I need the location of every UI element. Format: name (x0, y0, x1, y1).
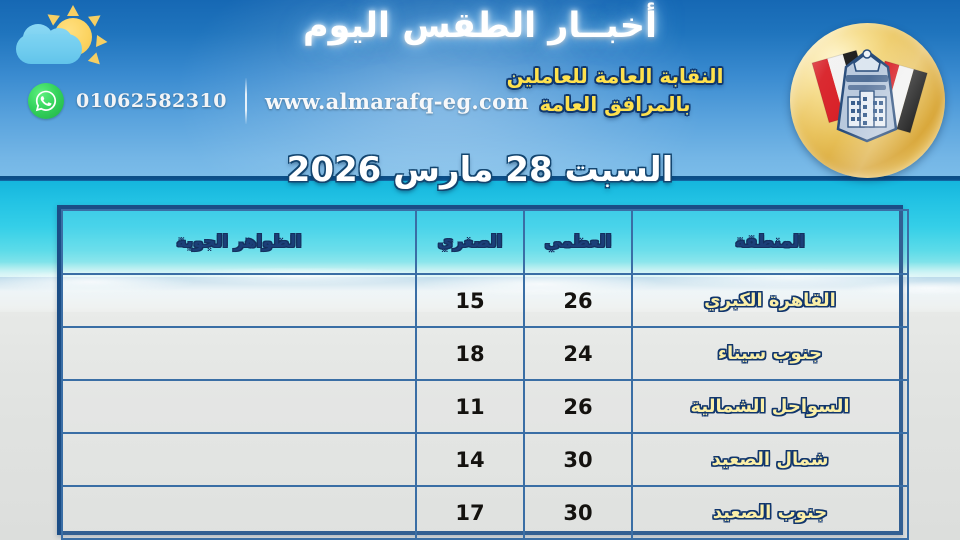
table-body: القاهرة الكبري 26 15 جنوب سيناء 24 18 ال… (62, 274, 908, 539)
column-header-region-label: المنطقة (633, 232, 907, 252)
cell-min: 15 (416, 274, 524, 327)
sun-ray-icon (88, 52, 104, 68)
table-row: القاهرة الكبري 26 15 (62, 274, 908, 327)
cell-max: 30 (524, 433, 632, 486)
cell-max: 26 (524, 274, 632, 327)
temp-min: 17 (417, 501, 523, 525)
region-name: السواحل الشمالية (633, 396, 907, 417)
cell-max: 30 (524, 486, 632, 539)
syndicate-name: النقابة العامة للعاملين بالمرافق العامة (450, 62, 780, 119)
cell-region: جنوب سيناء (632, 327, 908, 380)
region-name: القاهرة الكبري (633, 290, 907, 311)
cell-region: السواحل الشمالية (632, 380, 908, 433)
table-row: جنوب سيناء 24 18 (62, 327, 908, 380)
temp-max: 30 (525, 448, 631, 472)
cell-phenomena (62, 380, 416, 433)
cell-min: 18 (416, 327, 524, 380)
cell-phenomena (62, 274, 416, 327)
column-header-phenomena-label: الظواهر الجوية (63, 232, 415, 252)
table-header-row: المنطقة العظمي الصغري الظواهر الجوية (62, 210, 908, 274)
temp-max: 26 (525, 395, 631, 419)
region-name: جنوب سيناء (633, 343, 907, 364)
column-header-min: الصغري (416, 210, 524, 274)
cell-max: 24 (524, 327, 632, 380)
cell-phenomena (62, 433, 416, 486)
column-header-phenomena: الظواهر الجوية (62, 210, 416, 274)
column-header-min-label: الصغري (417, 232, 523, 252)
phenomena-text (63, 506, 415, 520)
forecast-date: السبت 28 مارس 2026 (0, 150, 960, 190)
region-name: جنوب الصعيد (633, 502, 907, 523)
temp-max: 26 (525, 289, 631, 313)
phenomena-text (63, 294, 415, 308)
cell-phenomena (62, 486, 416, 539)
cell-max: 26 (524, 380, 632, 433)
column-header-max-label: العظمي (525, 232, 631, 252)
temp-max: 24 (525, 342, 631, 366)
table-row: جنوب الصعيد 30 17 (62, 486, 908, 539)
table-row: شمال الصعيد 30 14 (62, 433, 908, 486)
weather-table-container: المنطقة العظمي الصغري الظواهر الجوية الق… (57, 205, 903, 535)
column-header-region: المنطقة (632, 210, 908, 274)
temp-min: 18 (417, 342, 523, 366)
contact-phone[interactable]: 01062582310 (76, 90, 227, 112)
table-header: المنطقة العظمي الصغري الظواهر الجوية (62, 210, 908, 274)
phenomena-text (63, 453, 415, 467)
syndicate-name-line2: بالمرافق العامة (450, 90, 780, 118)
contact-divider (245, 78, 247, 124)
whatsapp-icon[interactable] (28, 83, 64, 119)
phenomena-text (63, 347, 415, 361)
cell-phenomena (62, 327, 416, 380)
cell-region: جنوب الصعيد (632, 486, 908, 539)
cell-min: 11 (416, 380, 524, 433)
phenomena-text (63, 400, 415, 414)
cell-region: شمال الصعيد (632, 433, 908, 486)
table-row: السواحل الشمالية 26 11 (62, 380, 908, 433)
cell-min: 14 (416, 433, 524, 486)
temp-min: 14 (417, 448, 523, 472)
cell-min: 17 (416, 486, 524, 539)
weather-poster: أخبــار الطقس اليوم 01062582310 www.alma… (0, 0, 960, 540)
temp-min: 11 (417, 395, 523, 419)
cell-region: القاهرة الكبري (632, 274, 908, 327)
syndicate-name-line1: النقابة العامة للعاملين (450, 62, 780, 90)
temp-min: 15 (417, 289, 523, 313)
temp-max: 30 (525, 501, 631, 525)
column-header-max: العظمي (524, 210, 632, 274)
region-name: شمال الصعيد (633, 449, 907, 470)
weather-table: المنطقة العظمي الصغري الظواهر الجوية الق… (61, 209, 909, 540)
